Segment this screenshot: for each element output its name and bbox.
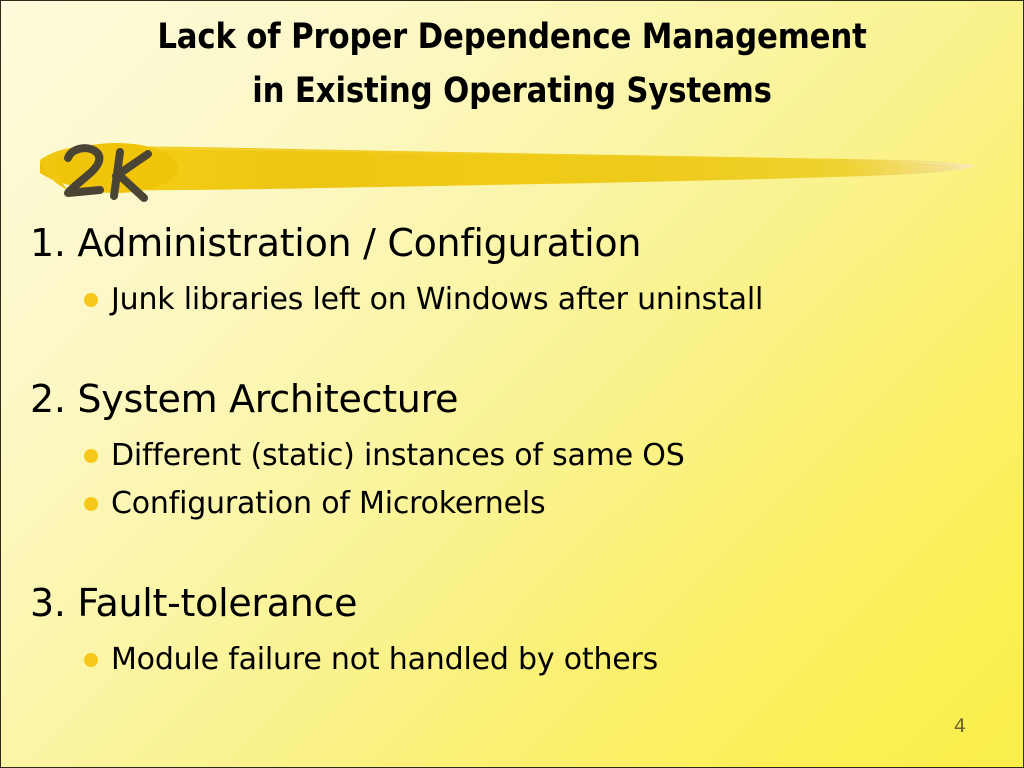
section-3-heading: 3. Fault-tolerance [0, 578, 1024, 628]
section-2-item-2: Configuration of Microkernels [0, 480, 1024, 528]
section-3-item-1: Module failure not handled by others [0, 636, 1024, 684]
title-line-1: Lack of Proper Dependence Management [61, 10, 962, 64]
section-3: 3. Fault-tolerance Module failure not ha… [0, 578, 1024, 684]
bullet-dot-icon [84, 653, 98, 667]
slide-title: Lack of Proper Dependence Management in … [0, 10, 1024, 118]
section-2-item-1: Different (static) instances of same OS [0, 432, 1024, 480]
section-2-item-2-text: Configuration of Microkernels [111, 480, 545, 528]
bullet-dot-icon [84, 497, 98, 511]
section-2-item-1-text: Different (static) instances of same OS [111, 432, 685, 480]
section-2: 2. System Architecture Different (static… [0, 374, 1024, 528]
title-line-2: in Existing Operating Systems [61, 64, 962, 118]
slide-body: 1. Administration / Configuration Junk l… [0, 218, 1024, 684]
page-number: 4 [954, 717, 966, 736]
brushstroke-banner [38, 138, 978, 208]
presentation-slide: Lack of Proper Dependence Management in … [0, 0, 1024, 768]
section-2-heading: 2. System Architecture [0, 374, 1024, 424]
section-1-item-1: Junk libraries left on Windows after uni… [0, 276, 1024, 324]
section-1-heading: 1. Administration / Configuration [0, 218, 1024, 268]
section-1: 1. Administration / Configuration Junk l… [0, 218, 1024, 324]
bullet-dot-icon [84, 293, 98, 307]
brush-stroke-body [40, 146, 976, 190]
bullet-dot-icon [84, 449, 98, 463]
section-1-item-1-text: Junk libraries left on Windows after uni… [111, 276, 763, 324]
section-3-item-1-text: Module failure not handled by others [111, 636, 658, 684]
